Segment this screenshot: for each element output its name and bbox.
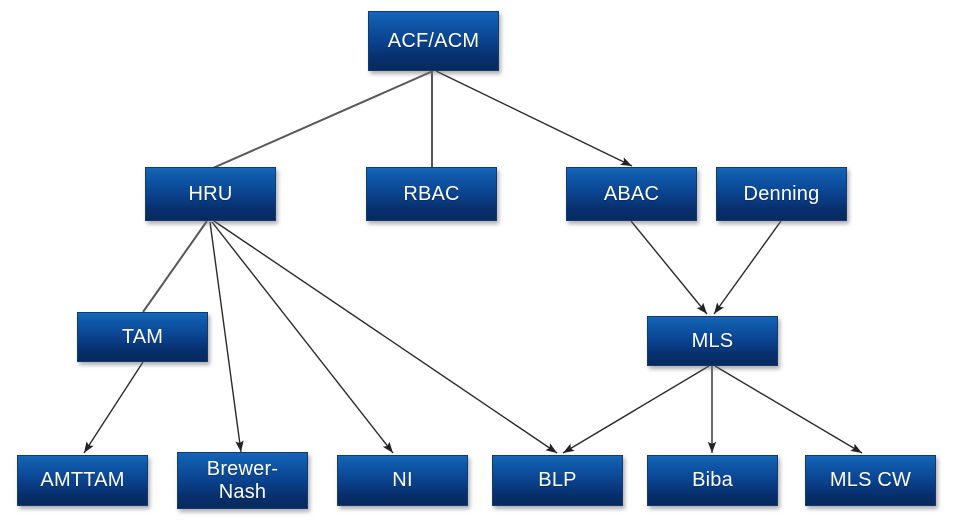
node-mls_cw[interactable]: MLS CW	[805, 455, 936, 506]
edge-abac-to-mls	[631, 221, 707, 314]
node-label-hru: HRU	[146, 183, 275, 205]
node-label-amttam: AMTTAM	[18, 469, 147, 491]
edge-mls-to-mls_cw	[715, 366, 862, 453]
edge-hru-to-ni	[212, 222, 393, 453]
node-abac[interactable]: ABAC	[566, 167, 697, 221]
node-mls[interactable]: MLS	[647, 316, 778, 366]
edge-hru-to-brewer_nash	[210, 222, 241, 452]
node-denning[interactable]: Denning	[716, 167, 847, 221]
node-ni[interactable]: NI	[337, 455, 468, 506]
edge-acf_acm-to-abac	[436, 71, 632, 166]
edge-hru-to-tam	[143, 221, 207, 312]
node-rbac[interactable]: RBAC	[366, 167, 497, 221]
diagram-canvas: ACF/ACMHRURBACABACDenningTAMMLSAMTTAMBre…	[0, 0, 955, 521]
edge-acf_acm-to-hru	[213, 71, 433, 168]
node-label-mls: MLS	[648, 330, 777, 352]
node-biba[interactable]: Biba	[647, 455, 778, 506]
node-label-tam: TAM	[78, 326, 207, 348]
node-label-biba: Biba	[648, 469, 777, 491]
node-label-acf_acm: ACF/ACM	[369, 30, 498, 52]
edge-layer	[0, 0, 955, 521]
node-label-abac: ABAC	[567, 183, 696, 205]
node-label-mls_cw: MLS CW	[806, 469, 935, 491]
node-blp[interactable]: BLP	[492, 455, 623, 506]
node-acf_acm[interactable]: ACF/ACM	[368, 11, 499, 71]
edge-hru-to-blp	[214, 221, 557, 453]
node-label-ni: NI	[338, 469, 467, 491]
node-label-rbac: RBAC	[367, 183, 496, 205]
node-tam[interactable]: TAM	[77, 312, 208, 362]
node-amttam[interactable]: AMTTAM	[17, 455, 148, 506]
edge-tam-to-amttam	[84, 362, 143, 453]
node-brewer_nash[interactable]: Brewer- Nash	[177, 452, 308, 509]
node-label-denning: Denning	[717, 183, 846, 205]
node-hru[interactable]: HRU	[145, 167, 276, 221]
node-label-brewer_nash: Brewer- Nash	[178, 458, 307, 503]
edge-denning-to-mls	[714, 221, 781, 314]
node-label-blp: BLP	[493, 469, 622, 491]
edge-mls-to-blp	[563, 366, 709, 453]
